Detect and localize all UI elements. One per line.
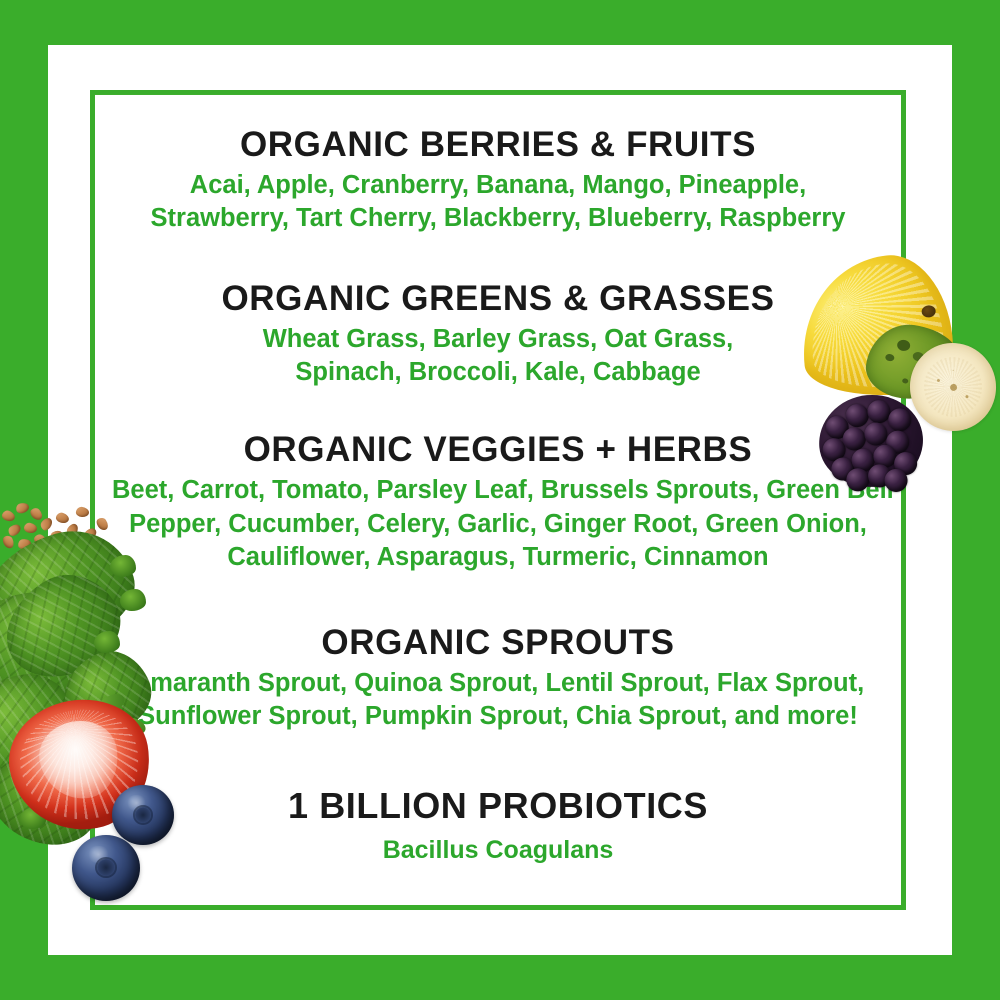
section-body-berries-fruits: Acai, Apple, Cranberry, Banana, Mango, P… [112,169,884,235]
seed [28,548,44,564]
ingredient-line: Cauliflower, Asparagus, Turmeric, Cinnam… [112,541,884,574]
section-berries-fruits: ORGANIC BERRIES & FRUITS Acai, Apple, Cr… [112,124,884,236]
ingredient-line: Sunflower Sprout, Pumpkin Sprout, Chia S… [112,700,884,733]
ingredient-line: Spinach, Broccoli, Kale, Cabbage [112,356,884,389]
seed [1,534,16,550]
seed [1,509,17,523]
ingredient-line: Acai, Apple, Cranberry, Banana, Mango, P… [112,169,884,202]
ingredient-sections: ORGANIC BERRIES & FRUITS Acai, Apple, Cr… [90,90,906,910]
ingredient-line: Bacillus Coagulans [112,834,884,867]
ingredient-line: Amaranth Sprout, Quinoa Sprout, Lentil S… [112,667,884,700]
section-greens-grasses: ORGANIC GREENS & GRASSES Wheat Grass, Ba… [112,278,884,390]
seed [28,506,44,522]
seed [17,538,31,550]
section-title-probiotics: 1 BILLION PROBIOTICS [112,785,884,827]
ingredient-line: Strawberry, Tart Cherry, Blackberry, Blu… [112,202,884,235]
section-body-veggies-herbs: Beet, Carrot, Tomato, Parsley Leaf, Brus… [112,474,884,573]
section-sprouts: ORGANIC SPROUTS Amaranth Sprout, Quinoa … [112,622,884,734]
section-title-sprouts: ORGANIC SPROUTS [112,622,884,663]
ingredient-line: Beet, Carrot, Tomato, Parsley Leaf, Brus… [112,474,884,507]
section-veggies-herbs: ORGANIC VEGGIES + HERBS Beet, Carrot, To… [112,429,884,574]
seed [23,522,38,534]
seed [15,502,30,515]
seed [32,532,48,547]
ingredient-line: Wheat Grass, Barley Grass, Oat Grass, [112,323,884,356]
section-title-greens-grasses: ORGANIC GREENS & GRASSES [112,278,884,319]
section-body-probiotics: Bacillus Coagulans [112,834,884,867]
section-probiotics: 1 BILLION PROBIOTICS Bacillus Coagulans [112,785,884,866]
section-body-greens-grasses: Wheat Grass, Barley Grass, Oat Grass, Sp… [112,323,884,389]
kale-frill [20,807,46,829]
ingredient-line: Pepper, Cucumber, Celery, Garlic, Ginger… [112,508,884,541]
section-title-veggies-herbs: ORGANIC VEGGIES + HERBS [112,429,884,470]
section-body-sprouts: Amaranth Sprout, Quinoa Sprout, Lentil S… [112,667,884,733]
seed [6,522,22,538]
ingredients-panel: ORGANIC BERRIES & FRUITS Acai, Apple, Cr… [0,0,1000,1000]
section-title-berries-fruits: ORGANIC BERRIES & FRUITS [112,124,884,165]
